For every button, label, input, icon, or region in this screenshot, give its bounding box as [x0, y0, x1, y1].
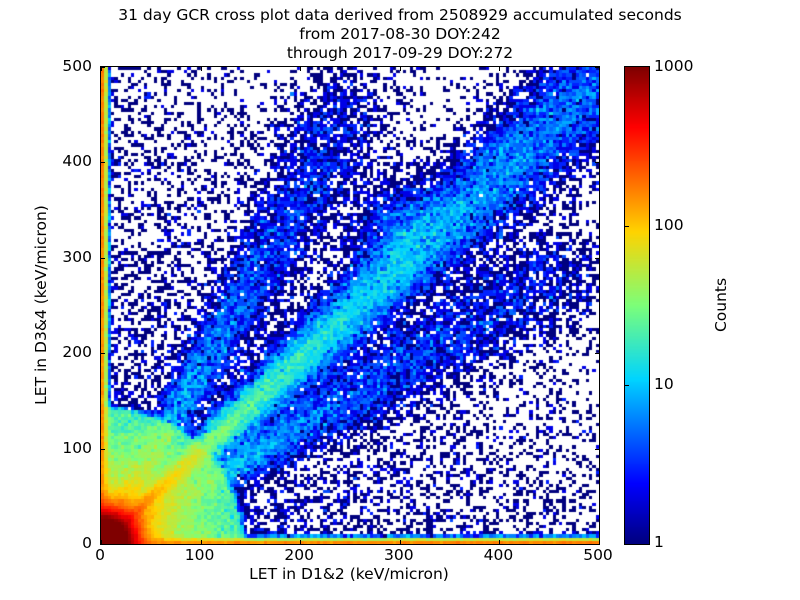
- plot-axes: [100, 66, 600, 545]
- y-axis-tick-label: 0: [0, 534, 92, 552]
- x-axis-tick: [201, 540, 202, 544]
- x-axis-tick-label: 400: [484, 546, 514, 564]
- y-axis-tick: [101, 258, 105, 259]
- x-axis-tick: [300, 540, 301, 544]
- x-axis-tick: [400, 67, 401, 71]
- colorbar-tick-label: 1: [654, 533, 664, 551]
- y-axis-label: LET in D3&4 (keV/micron): [32, 105, 50, 305]
- figure-canvas: 31 day GCR cross plot data derived from …: [0, 0, 800, 600]
- colorbar-tick: [625, 385, 629, 386]
- colorbar-gradient: [625, 67, 649, 544]
- colorbar-tick-label: 100: [654, 216, 684, 234]
- chart-title: 31 day GCR cross plot data derived from …: [0, 6, 800, 63]
- title-line-2: from 2017-08-30 DOY:242: [0, 25, 800, 44]
- colorbar-tick: [625, 226, 629, 227]
- title-line-1: 31 day GCR cross plot data derived from …: [0, 6, 800, 25]
- x-axis-label: LET in D1&2 (keV/micron): [100, 565, 598, 583]
- x-axis-tick: [300, 67, 301, 71]
- colorbar-tick-label: 10: [654, 375, 674, 393]
- y-axis-tick: [101, 162, 105, 163]
- x-axis-tick-label: 0: [95, 546, 105, 564]
- y-axis-tick: [595, 162, 599, 163]
- x-axis-tick: [400, 540, 401, 544]
- density-scatter-plot: [101, 67, 599, 544]
- y-axis-tick: [595, 353, 599, 354]
- x-axis-tick: [499, 67, 500, 71]
- y-axis-tick-label: 300: [0, 248, 92, 266]
- y-axis-tick-label: 100: [0, 439, 92, 457]
- x-axis-tick-label: 500: [583, 546, 613, 564]
- y-axis-tick: [595, 544, 599, 545]
- y-axis-tick-label: 200: [0, 343, 92, 361]
- x-axis-tick-label: 300: [384, 546, 414, 564]
- x-axis-tick: [599, 540, 600, 544]
- colorbar: [624, 66, 650, 545]
- y-axis-tick: [101, 67, 105, 68]
- y-axis-tick-label: 500: [0, 57, 92, 75]
- colorbar-tick-label: 1000: [654, 57, 693, 75]
- x-axis-tick: [499, 540, 500, 544]
- y-axis-tick: [595, 67, 599, 68]
- x-axis-tick-label: 100: [185, 546, 215, 564]
- y-axis-tick: [595, 449, 599, 450]
- y-axis-tick: [101, 449, 105, 450]
- y-axis-tick: [101, 353, 105, 354]
- y-axis-tick: [101, 544, 105, 545]
- x-axis-tick-label: 200: [284, 546, 314, 564]
- x-axis-tick: [201, 67, 202, 71]
- colorbar-label-text: Counts: [712, 278, 730, 332]
- y-axis-label-text: LET in D3&4 (keV/micron): [32, 205, 50, 405]
- y-axis-tick: [595, 258, 599, 259]
- y-axis-tick-label: 400: [0, 152, 92, 170]
- colorbar-label: Counts: [712, 251, 730, 305]
- x-axis-tick: [599, 67, 600, 71]
